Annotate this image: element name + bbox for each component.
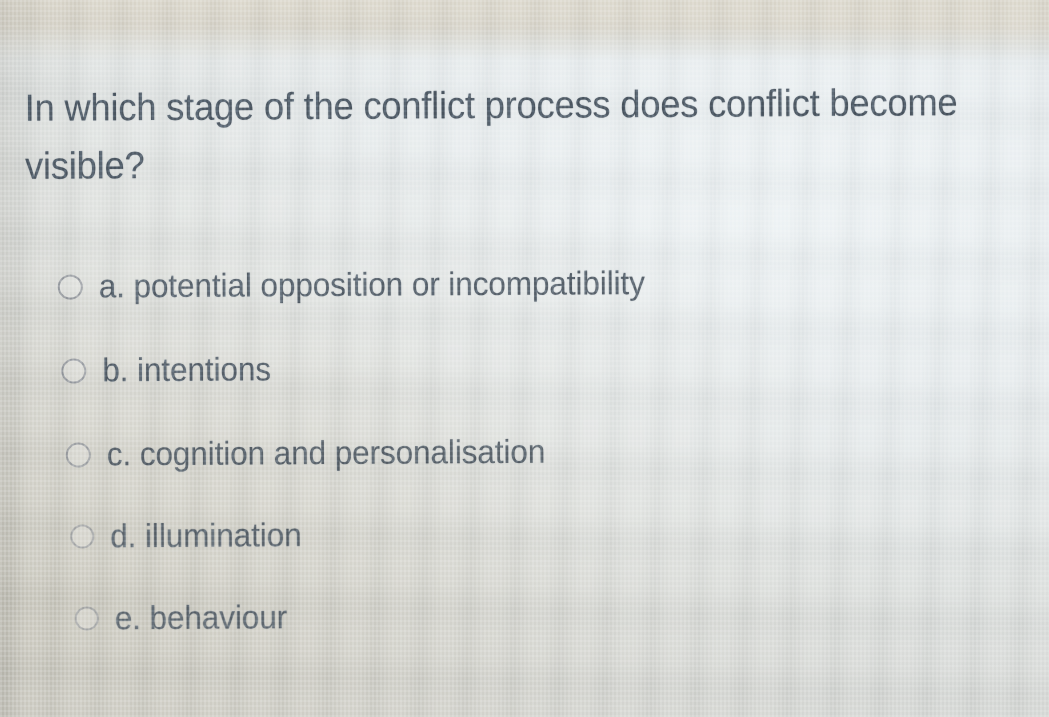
answer-option-d-label: d. illumination <box>110 516 301 555</box>
radio-button-d-icon[interactable] <box>70 524 94 548</box>
answer-options-list: a. potential opposition or incompatibili… <box>2 242 1049 248</box>
answer-option-e-label: e. behaviour <box>115 598 288 637</box>
answer-option-b[interactable]: b. intentions <box>61 346 279 393</box>
radio-button-b-icon[interactable] <box>61 358 86 383</box>
radio-button-a-icon[interactable] <box>58 274 83 299</box>
quiz-question-screenshot: In which stage of the conflict process d… <box>0 0 1049 717</box>
radio-button-e-icon[interactable] <box>75 606 99 630</box>
answer-option-a[interactable]: a. potential opposition or incompatibili… <box>58 260 671 310</box>
question-content: In which stage of the conflict process d… <box>0 0 1049 717</box>
question-text: In which stage of the conflict process d… <box>24 74 1001 196</box>
answer-option-c[interactable]: c. cognition and personalisation <box>66 429 566 478</box>
answer-option-c-label: c. cognition and personalisation <box>107 433 546 474</box>
answer-option-d[interactable]: d. illumination <box>70 512 311 559</box>
answer-option-a-label: a. potential opposition or incompatibili… <box>99 264 645 305</box>
answer-option-e[interactable]: e. behaviour <box>75 594 296 641</box>
radio-button-c-icon[interactable] <box>66 442 91 467</box>
answer-option-b-label: b. intentions <box>102 350 271 389</box>
